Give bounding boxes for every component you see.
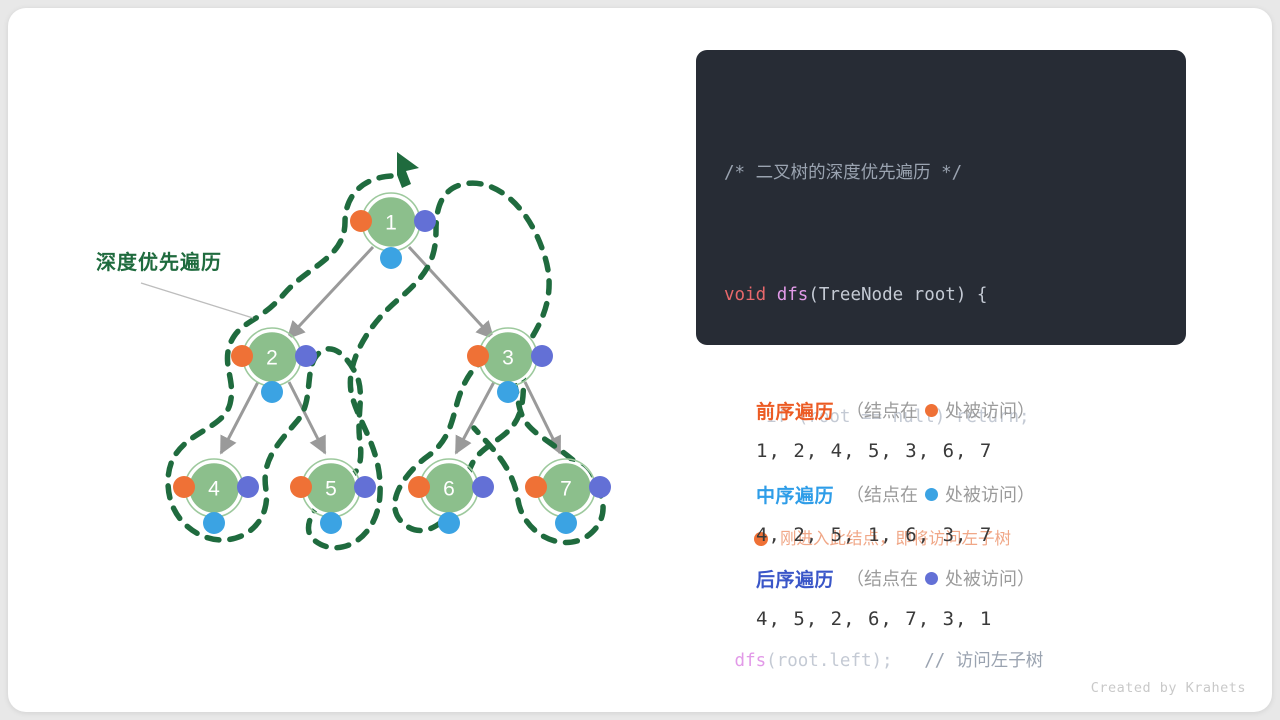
tree-svg: 1 2 3	[8, 8, 688, 712]
pre-order-dot	[525, 476, 547, 498]
result-group-preorder: 前序遍历 （结点在 处被访问） 1, 2, 4, 5, 3, 6, 7	[756, 393, 1176, 475]
keyword-void: void	[724, 285, 766, 305]
pre-order-dot	[925, 404, 938, 417]
pre-order-dot	[408, 476, 430, 498]
in-order-dot	[438, 512, 460, 534]
tree-nodes: 1 2 3	[173, 193, 611, 534]
inorder-heading: 中序遍历 （结点在 处被访问）	[756, 477, 1176, 511]
preorder-sequence: 1, 2, 4, 5, 3, 6, 7	[756, 427, 1176, 475]
postorder-note: （结点在 处被访问）	[846, 565, 1035, 591]
node-label: 2	[266, 347, 278, 370]
illustration-canvas: 1 2 3	[8, 8, 1272, 712]
post-order-dot	[237, 476, 259, 498]
in-order-dot	[497, 381, 519, 403]
node-label: 6	[443, 478, 455, 501]
inorder-sequence: 4, 2, 5, 1, 6, 3, 7	[756, 511, 1176, 559]
in-order-dot	[555, 512, 577, 534]
preorder-note-suffix: 处被访问）	[945, 397, 1035, 423]
preorder-title: 前序遍历	[756, 397, 834, 424]
indent-1	[724, 651, 735, 671]
tree-node-2[interactable]: 2	[231, 328, 317, 403]
postorder-title: 后序遍历	[756, 565, 834, 592]
post-order-dot	[354, 476, 376, 498]
in-order-dot	[203, 512, 225, 534]
result-group-postorder: 后序遍历 （结点在 处被访问） 4, 5, 2, 6, 7, 3, 1	[756, 561, 1176, 643]
code-block: /* 二叉树的深度优先遍历 */ void dfs(TreeNode root)…	[696, 50, 1186, 345]
binary-tree-diagram: 1 2 3	[8, 8, 688, 712]
code-line-signature: void dfs(TreeNode root) {	[724, 280, 1162, 311]
dfs-label: 深度优先遍历	[96, 246, 222, 275]
edge-1-3	[409, 247, 493, 338]
signature-rest: (TreeNode root) {	[808, 285, 987, 305]
post-order-dot	[414, 210, 436, 232]
label-leader-line	[141, 283, 253, 318]
node-label: 7	[560, 478, 572, 501]
traversal-results: 前序遍历 （结点在 处被访问） 1, 2, 4, 5, 3, 6, 7 中序遍历…	[756, 393, 1176, 645]
pre-order-dot	[173, 476, 195, 498]
edge-1-2	[288, 247, 373, 338]
play-triangle-icon	[397, 152, 419, 188]
in-order-dot	[320, 512, 342, 534]
tree-node-6[interactable]: 6	[408, 459, 494, 534]
watermark: Created by Krahets	[1091, 680, 1246, 696]
in-order-dot	[261, 381, 283, 403]
node-label: 4	[208, 478, 220, 501]
edge-3-7	[525, 382, 560, 453]
preorder-note-prefix: （结点在	[846, 397, 918, 423]
in-order-dot	[380, 247, 402, 269]
preorder-note: （结点在 处被访问）	[846, 397, 1035, 423]
tree-node-7[interactable]: 7	[525, 459, 611, 534]
space-1	[766, 285, 777, 305]
postorder-sequence: 4, 5, 2, 6, 7, 3, 1	[756, 595, 1176, 643]
code-line-dfs-left: dfs(root.left); // 访问左子树	[724, 646, 1162, 677]
gap-1	[893, 651, 925, 671]
node-label: 5	[325, 478, 337, 501]
inorder-note-prefix: （结点在	[846, 481, 918, 507]
pre-order-dot	[350, 210, 372, 232]
code-comment-header: /* 二叉树的深度优先遍历 */	[724, 158, 1162, 189]
preorder-heading: 前序遍历 （结点在 处被访问）	[756, 393, 1176, 427]
post-order-dot	[472, 476, 494, 498]
post-order-dot	[531, 345, 553, 367]
node-label: 3	[502, 347, 514, 370]
fn-dfs-left: dfs	[735, 651, 767, 671]
edge-2-4	[221, 382, 258, 453]
post-order-dot	[589, 476, 611, 498]
in-order-dot	[925, 488, 938, 501]
fn-dfs: dfs	[777, 285, 809, 305]
tree-node-5[interactable]: 5	[290, 459, 376, 534]
node-label: 1	[385, 212, 397, 235]
tree-node-4[interactable]: 4	[173, 459, 259, 534]
edge-2-5	[289, 382, 325, 453]
postorder-note-prefix: （结点在	[846, 565, 918, 591]
postorder-note-suffix: 处被访问）	[945, 565, 1035, 591]
postorder-heading: 后序遍历 （结点在 处被访问）	[756, 561, 1176, 595]
post-order-dot	[295, 345, 317, 367]
inorder-title: 中序遍历	[756, 481, 834, 508]
pre-order-dot	[231, 345, 253, 367]
dfs-left-rest: (root.left);	[766, 651, 892, 671]
tree-node-3[interactable]: 3	[467, 328, 553, 403]
post-order-dot	[925, 572, 938, 585]
pre-order-dot	[290, 476, 312, 498]
comment-left: // 访问左子树	[924, 651, 1043, 671]
inorder-note-suffix: 处被访问）	[945, 481, 1035, 507]
result-group-inorder: 中序遍历 （结点在 处被访问） 4, 2, 5, 1, 6, 3, 7	[756, 477, 1176, 559]
pre-order-dot	[467, 345, 489, 367]
inorder-note: （结点在 处被访问）	[846, 481, 1035, 507]
